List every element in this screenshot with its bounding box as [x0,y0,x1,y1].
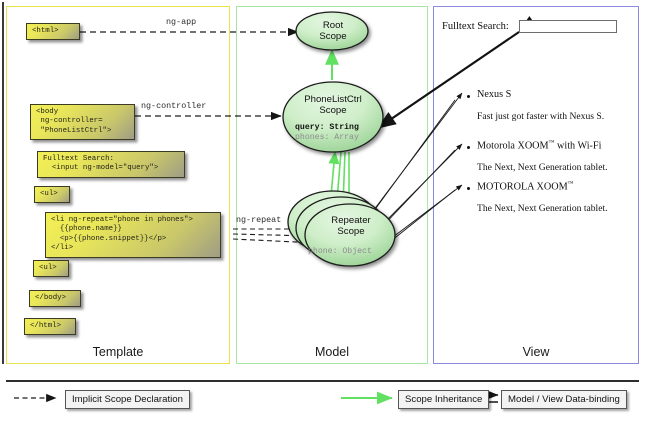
root-scope-label: Root Scope [297,20,369,42]
repeater-scope-props: phone: Object [308,247,398,257]
code-box-ul-close: <ul> [33,260,69,277]
legend-scope-inheritance: Scope Inheritance [398,390,489,409]
view-bullet-1 [467,95,470,98]
panel-template: Template [6,6,230,364]
wire-label-ng-controller: ng-controller [141,101,206,111]
view-item-name-2: Motorola XOOM™ with Wi-Fi [477,140,601,151]
phonelistctrl-scope-props: query: String phones: Array [295,123,385,143]
diagram-canvas: Template Model View [0,0,645,425]
wire-label-ng-repeat: ng-repeat [236,215,281,225]
left-edge-rule [2,2,4,364]
prop-query: query: String [295,123,359,132]
wire-label-ng-app: ng-app [166,17,196,27]
view-item-name-1: Nexus S [477,89,511,100]
code-box-body-close: </body> [29,290,81,307]
panel-model: Model [236,6,428,364]
view-item-name-2-suffix: with Wi-Fi [554,140,601,151]
code-box-body-tag: <body ng-controller= "PhoneListCtrl"> [30,104,135,140]
view-bullet-3 [467,187,470,190]
panel-model-title: Model [237,345,427,359]
code-box-fulltext-search: Fulltext Search: <input ng-model="query"… [37,151,185,178]
view-item-name-3-text: MOTOROLA XOOM [477,181,568,192]
trademark-icon: ™ [568,181,574,187]
view-item-name-3: MOTOROLA XOOM™ [477,181,574,192]
legend-implicit-scope-declaration: Implicit Scope Declaration [65,390,190,409]
phonelistctrl-scope-label: PhoneListCtrl Scope [283,94,383,116]
prop-phones: phones: Array [295,133,359,142]
panel-template-title: Template [7,345,229,359]
view-bullet-2 [467,146,470,149]
view-item-snippet-1: Fast just got faster with Nexus S. [477,111,604,122]
code-box-ul-open: <ul> [34,186,70,203]
repeater-scope-label: Repeater Scope [305,215,397,237]
code-box-html-close: </html> [24,318,76,335]
view-item-snippet-2: The Next, Next Generation tablet. [477,162,608,173]
fulltext-search-line1: Fulltext Search: [43,155,114,163]
view-item-snippet-3: The Next, Next Generation tablet. [477,203,608,214]
legend-divider [6,380,639,382]
code-box-li-ng-repeat: <li ng-repeat="phone in phones"> {{phone… [45,212,221,258]
fulltext-search-line2: <input ng-model="query"> [43,164,158,172]
view-search-input[interactable] [519,20,617,33]
view-search-label: Fulltext Search: [442,21,509,32]
code-box-html-open: <html> [26,23,80,40]
panel-view-title: View [434,345,638,359]
legend-model-view-databinding: Model / View Data-binding [501,390,627,409]
view-item-name-2-text: Motorola XOOM [477,140,549,151]
